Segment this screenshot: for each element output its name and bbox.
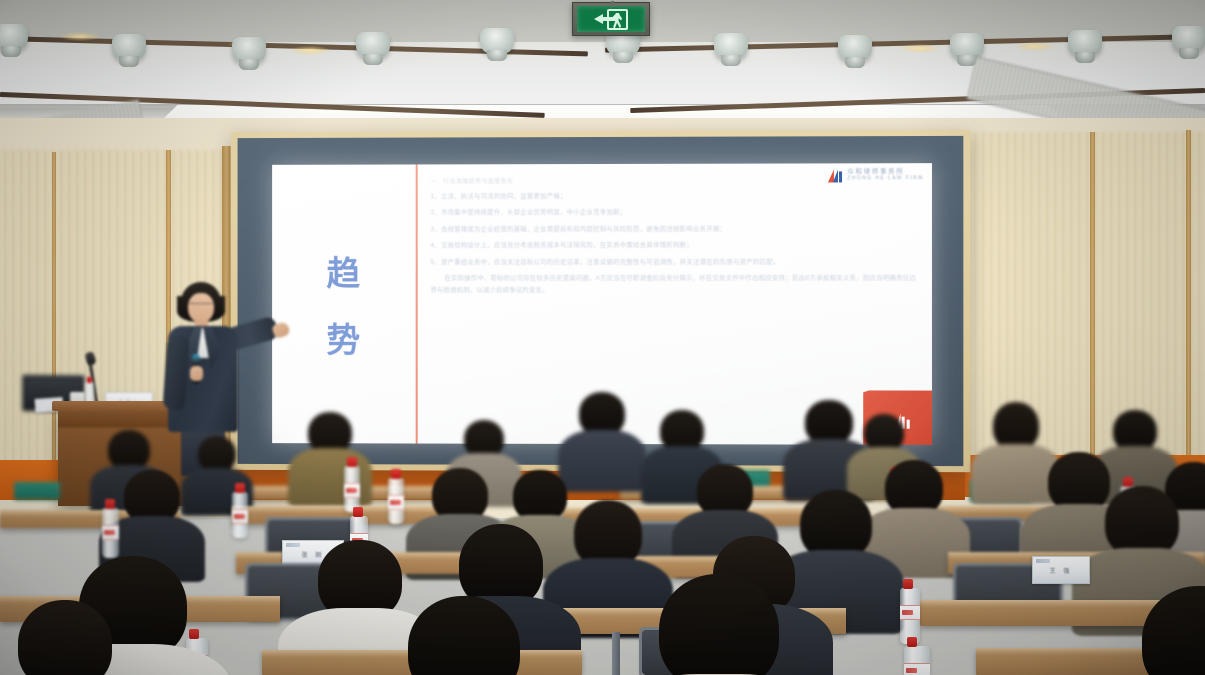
slide-bullet: 3、合规管理成为企业经营的基础，企业需提前布局内部控制与风险防范，避免因违规影响… xyxy=(431,224,918,237)
presenter-face xyxy=(188,293,214,323)
spotlight-glow xyxy=(1015,42,1055,51)
spotlight-glow xyxy=(290,46,330,55)
ceiling-spotlight xyxy=(1068,30,1102,56)
presenter-mic-hand xyxy=(190,366,203,381)
ceiling-spotlight xyxy=(950,33,984,59)
ceiling-spotlight xyxy=(232,37,266,63)
ceiling-spotlight xyxy=(356,32,390,58)
desk-leg xyxy=(612,632,620,675)
name-card-text: 王 强 xyxy=(1050,566,1073,575)
slide-bullet: 4、交易结构设计上，应当充分考虑税务成本与法律风险，在实务中需结合具体情形判断； xyxy=(431,240,918,253)
wall-panel-seam xyxy=(1186,130,1191,484)
slide-bullet: 5、资产重组业务中，应当关注目标公司的历史沿革，注意证据的完整性与可追溯性，并关… xyxy=(431,257,918,270)
spotlight-glow xyxy=(900,44,940,53)
emergency-exit-sign xyxy=(572,2,650,36)
audience-member xyxy=(570,392,634,482)
exit-sign-panel xyxy=(577,6,645,32)
logo-text-en: ZHONG HE LAW FIRM xyxy=(847,177,924,182)
slide-label-char-1: 趋 xyxy=(326,246,361,295)
water-bottle xyxy=(344,466,360,512)
table-name-card: 王 强 xyxy=(1032,556,1090,584)
water-bottle xyxy=(102,508,119,558)
slide-firm-logo: 众和律师事务所 ZHONG HE LAW FIRM xyxy=(828,169,924,182)
presenter-glasses xyxy=(189,303,213,308)
wall-panel-seam xyxy=(1090,132,1095,484)
slide-bullet: 1、立法、执法与司法的协同，监管更加严格； xyxy=(431,190,918,203)
ceiling-spotlight xyxy=(480,28,514,54)
ceiling-spotlight xyxy=(1172,26,1205,52)
water-bottle xyxy=(900,588,920,644)
exit-door-icon xyxy=(607,9,628,30)
audience-member xyxy=(1120,586,1205,675)
ceiling-spotlight xyxy=(112,34,146,60)
audience-member xyxy=(636,574,802,675)
slide-paragraph: 在实际操作中，若标的公司存在较多历史遗留问题，A方应当在尽职调查阶段充分揭示，并… xyxy=(431,273,918,297)
slide-bullet: 2、市场集中度持续提升，头部企业优势明显，中小企业竞争加剧； xyxy=(431,207,918,220)
water-bottle xyxy=(904,646,930,675)
water-bottle xyxy=(388,478,404,524)
sign-mount xyxy=(611,1,614,7)
audience-member xyxy=(0,600,130,675)
running-man-icon xyxy=(612,13,623,29)
ceiling-spotlight xyxy=(0,24,28,50)
back-table-object xyxy=(14,482,60,500)
conference-hall-photo: 趋 势 一、行业发展趋势与监管变化 1、立法、执法与司法的协同，监管更加严格； … xyxy=(0,0,1205,675)
slide-vertical-divider xyxy=(416,164,418,443)
wall-panel-seam xyxy=(52,152,56,478)
audience-member xyxy=(112,470,192,570)
logo-mark-icon xyxy=(828,169,843,182)
ceiling-spotlight xyxy=(714,33,748,59)
left-arrow-icon xyxy=(594,14,603,24)
audience-member xyxy=(386,596,542,675)
slide-label-char-2: 势 xyxy=(326,313,361,362)
water-bottle xyxy=(232,492,248,538)
slide-section-label: 趋 势 xyxy=(272,164,416,443)
spotlight-glow xyxy=(60,32,100,41)
ceiling-spotlight xyxy=(838,35,872,61)
